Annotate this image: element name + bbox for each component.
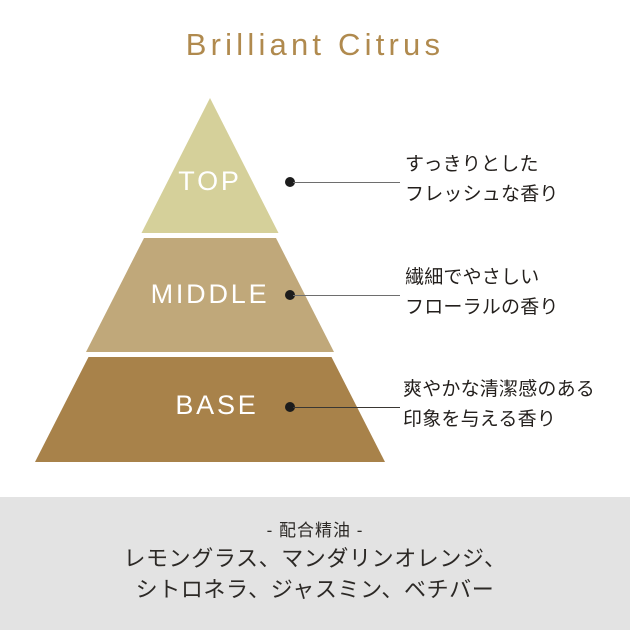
note-description-base-line-1: 爽やかな清潔感のある — [403, 375, 595, 405]
tier-label-top: TOP — [130, 168, 290, 195]
connector-line-top — [293, 182, 400, 184]
fragrance-pyramid: TOP MIDDLE BASE すっきりとした フレッシュな香り 繊細でやさしい… — [0, 0, 630, 497]
ingredients-footer: - 配合精油 - レモングラス、マンダリンオレンジ、 シトロネラ、ジャスミン、ベ… — [0, 497, 630, 630]
note-description-middle-line-2: フローラルの香り — [405, 293, 559, 323]
note-description-base-line-2: 印象を与える香り — [403, 405, 595, 435]
fragrance-pyramid-card: Brilliant Citrus TOP MIDDLE BASE すっきりとした — [0, 0, 630, 630]
ingredients-line-2: シトロネラ、ジャスミン、ベチバー — [0, 574, 630, 605]
note-description-top-line-2: フレッシュな香り — [405, 180, 559, 210]
note-description-top-line-1: すっきりとした — [405, 150, 559, 180]
connector-top — [285, 176, 400, 188]
ingredients-line-1: レモングラス、マンダリンオレンジ、 — [0, 543, 630, 574]
ingredients-heading: - 配合精油 - — [0, 516, 630, 541]
connector-line-base — [293, 407, 400, 409]
note-description-middle: 繊細でやさしい フローラルの香り — [405, 263, 559, 323]
connector-base — [285, 401, 400, 413]
connector-line-middle — [293, 295, 400, 297]
note-description-middle-line-1: 繊細でやさしい — [405, 263, 559, 293]
ingredients-list: レモングラス、マンダリンオレンジ、 シトロネラ、ジャスミン、ベチバー — [0, 543, 630, 605]
connector-middle — [285, 289, 400, 301]
note-description-base: 爽やかな清潔感のある 印象を与える香り — [403, 375, 595, 435]
note-description-top: すっきりとした フレッシュな香り — [405, 150, 559, 210]
